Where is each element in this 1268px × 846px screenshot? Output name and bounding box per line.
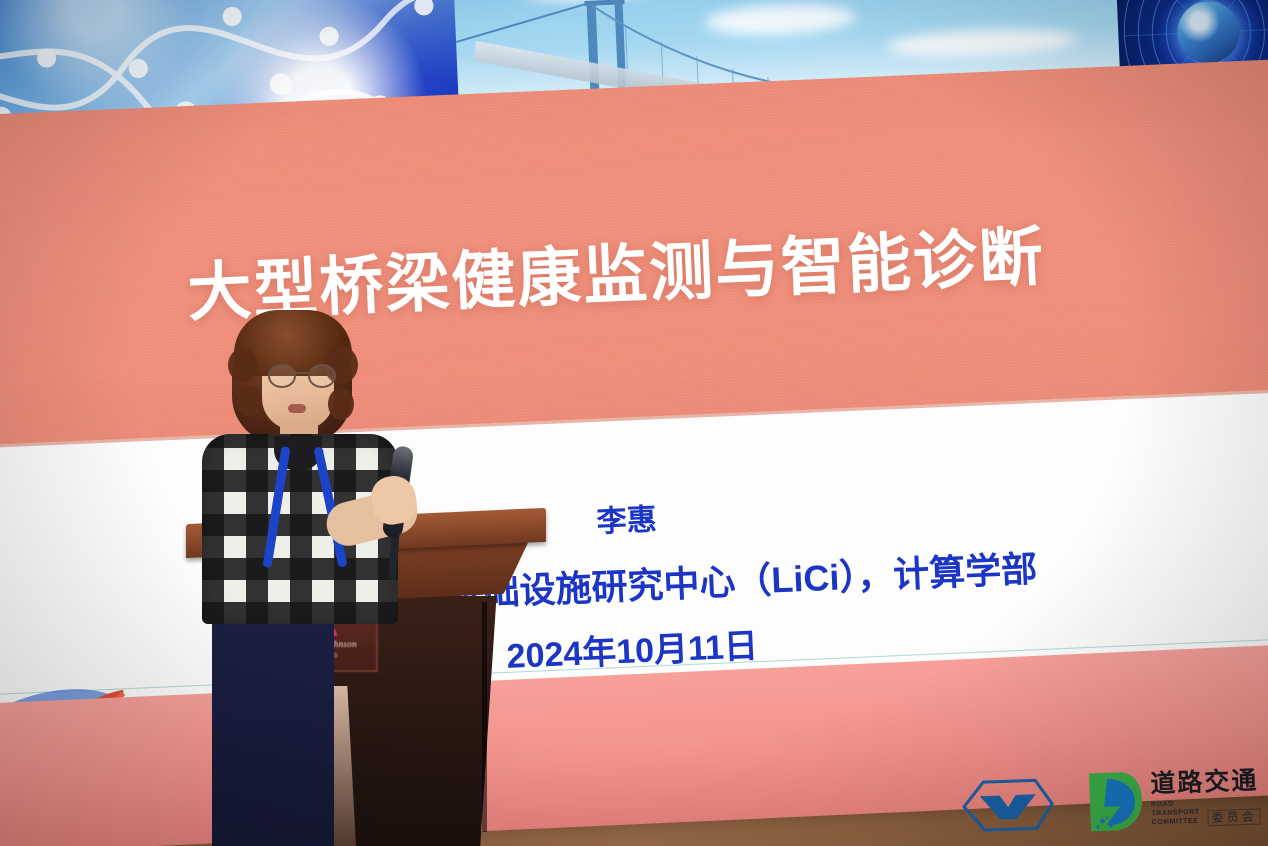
speaker-skirt [212, 612, 334, 846]
rtc-mark-icon [1085, 770, 1143, 834]
hair-curl [228, 348, 258, 382]
road-transport-committee-logo: 道路交通 ROAD TRANSPORT COMMITTEE 委员会 [1085, 766, 1261, 834]
rtc-label-cn: 道路交通 [1150, 769, 1260, 798]
rtc-sublabels: ROAD TRANSPORT COMMITTEE 委员会 [1151, 798, 1261, 828]
hair-curl [236, 386, 262, 416]
rtc-label-en: ROAD TRANSPORT COMMITTEE [1151, 800, 1200, 828]
stage-logo-group: 道路交通 ROAD TRANSPORT COMMITTEE 委员会 [943, 765, 1261, 840]
glasses-bridge [292, 372, 308, 374]
speaker-glasses [268, 364, 332, 384]
rtc-text-block: 道路交通 ROAD TRANSPORT COMMITTEE 委员会 [1150, 769, 1261, 828]
podium-groove [482, 602, 487, 832]
speaker-mouth [288, 404, 306, 413]
glasses-lens [268, 364, 296, 388]
glasses-lens [308, 364, 336, 388]
conference-photo-scene: 大型桥梁健康监测与智能诊断 李惠 工业大学 智慧基础设施研究中心（LiCi），计… [0, 0, 1268, 846]
rtc-label-cn-sub: 委员会 [1207, 808, 1261, 826]
rtc-label-en-line3: COMMITTEE [1152, 817, 1200, 827]
blue-diamond-emblem [943, 772, 1057, 840]
hair-curl [328, 388, 354, 420]
speaker-person [176, 300, 426, 720]
